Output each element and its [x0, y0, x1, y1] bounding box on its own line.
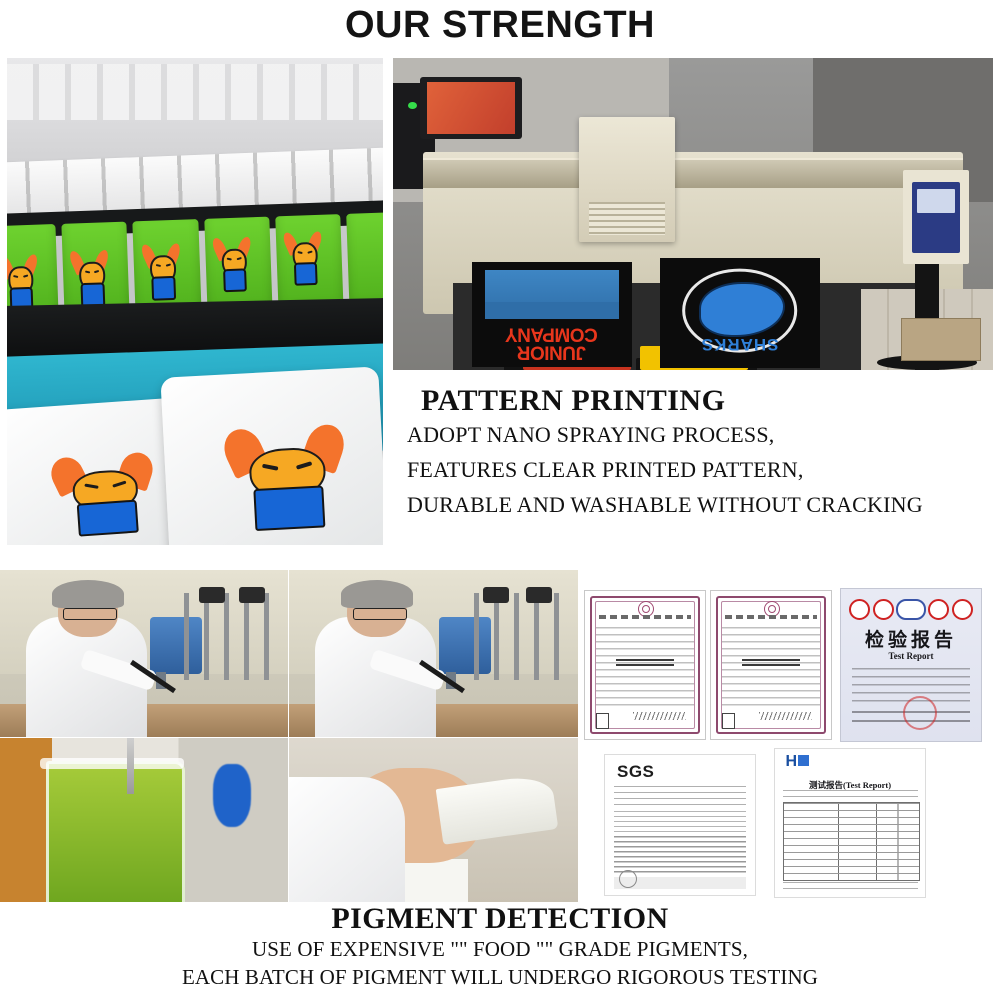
bull-mascot-icon	[73, 249, 107, 303]
photo-print-line	[7, 58, 383, 545]
printer-gantry-rail	[423, 158, 963, 188]
lab-stand-arms-left	[184, 593, 282, 680]
print-line-foreground-shirts	[15, 360, 383, 545]
pattern-printing-line-2: FEATURES CLEAR PRINTED PATTERN,	[393, 453, 997, 488]
lab-knob	[483, 587, 509, 604]
scientist-glasses-icon	[63, 608, 117, 620]
photo-lab-right	[289, 570, 578, 737]
iso-certificate-chinese	[584, 590, 706, 740]
photo-green-pigment-beaker	[0, 738, 288, 902]
pattern-printing-text-block: PATTERN PRINTING ADOPT NANO SPRAYING PRO…	[393, 378, 997, 553]
bull-mascot-icon	[55, 451, 153, 533]
pattern-printing-line-1: ADOPT NANO SPRAYING PROCESS,	[393, 418, 997, 453]
printed-tee-junior-company: JUNIOR COMPANY	[472, 262, 632, 367]
infographic-page: OUR STRENGTH	[0, 0, 1000, 1000]
accreditation-logo-icon	[596, 713, 609, 729]
bull-mascot-icon	[215, 237, 249, 289]
scientist-glasses-icon	[353, 608, 407, 620]
sgs-test-report: SGS	[604, 754, 756, 896]
ccc-logo-icon	[849, 599, 870, 620]
h-test-report-title: 测试报告(Test Report)	[775, 779, 925, 791]
iso-certificate-english	[710, 590, 832, 740]
cnas-logo-icon	[896, 599, 926, 620]
inspection-test-report: 检验报告 Test Report	[840, 588, 982, 742]
sgs-results-table	[614, 836, 746, 875]
pigment-detection-line-2: EACH BATCH OF PIGMENT WILL UNDERGO RIGOR…	[0, 964, 1000, 992]
page-title: OUR STRENGTH	[0, 0, 1000, 50]
cardboard-box	[901, 318, 981, 361]
bull-mascot-icon	[7, 254, 36, 308]
lab-coat-sleeve	[289, 777, 405, 902]
stirring-rod-icon	[127, 738, 134, 794]
test-report-title-cn: 检验报告	[841, 625, 981, 652]
bull-mascot-icon	[286, 230, 320, 282]
h-test-report: H 测试报告(Test Report)	[774, 748, 926, 898]
cqc-logo-icon	[952, 599, 973, 620]
printer-carriage-head	[579, 117, 675, 242]
green-tee	[346, 211, 383, 311]
pigment-detection-text-block: PIGMENT DETECTION USE OF EXPENSIVE "" FO…	[0, 900, 1000, 1000]
printed-tee-sharks: SHARKS	[660, 258, 820, 368]
cal-logo-icon	[928, 599, 949, 620]
sharks-print-text: SHARKS	[682, 334, 797, 354]
lab-knob	[199, 587, 225, 604]
bull-mascot-icon	[228, 423, 342, 527]
accreditation-logo-icon	[722, 713, 735, 729]
background-blue-object	[213, 764, 250, 826]
pattern-printing-heading: PATTERN PRINTING	[393, 378, 997, 418]
sgs-stamp-icon	[619, 870, 637, 888]
pigment-detection-line-1: USE OF EXPENSIVE "" FOOD "" GRADE PIGMEN…	[0, 936, 1000, 964]
photo-lab-left	[0, 570, 288, 737]
certification-logo-row	[849, 600, 972, 620]
junior-company-print-text: JUNIOR COMPANY	[478, 324, 625, 360]
sgs-logo: SGS	[617, 762, 654, 782]
bull-mascot-icon	[144, 243, 178, 297]
printer-tablet-screen	[420, 77, 522, 139]
pattern-printing-line-3: DURABLE AND WASHABLE WITHOUT CRACKING	[393, 488, 997, 523]
lab-knob	[239, 587, 265, 604]
white-tee-front-right	[160, 366, 383, 545]
h-results-table	[783, 802, 920, 881]
printer-control-panel[interactable]	[903, 170, 969, 264]
lab-knob	[526, 587, 552, 604]
certificates-area: 检验报告 Test Report SGS H 测试报告(Test Report)	[578, 568, 1000, 902]
sharks-artwork: SHARKS	[682, 269, 797, 353]
test-report-title-en: Test Report	[841, 651, 981, 661]
junior-company-artwork	[485, 270, 619, 318]
pigment-detection-heading: PIGMENT DETECTION	[0, 900, 1000, 936]
cma-logo-icon	[873, 599, 894, 620]
beaker-with-green-pigment	[46, 761, 184, 902]
h-logo: H	[786, 753, 798, 771]
lab-stand-arms-right	[474, 593, 572, 680]
red-official-stamp-icon	[903, 696, 937, 730]
photo-fabric-inspection	[289, 738, 578, 902]
